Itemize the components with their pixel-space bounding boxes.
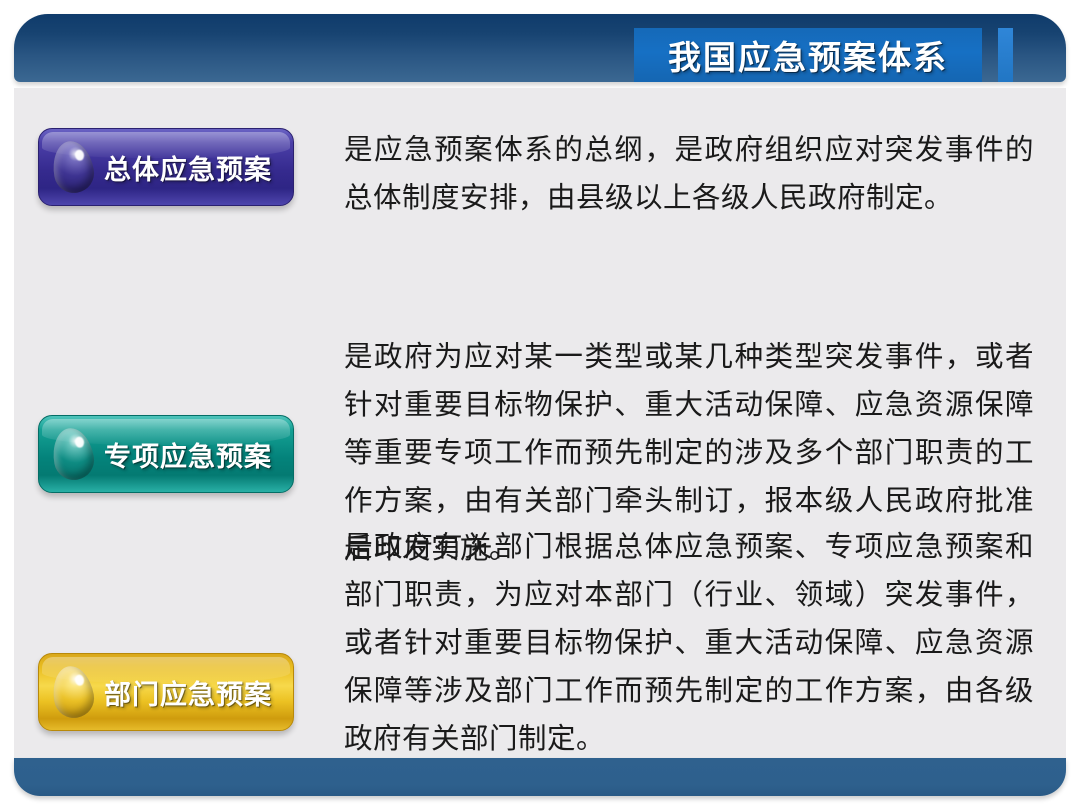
footer-bar — [14, 758, 1066, 796]
header-title-box: 我国应急预案体系 — [634, 28, 982, 82]
button-overall-emergency-plan[interactable]: 总体应急预案 — [38, 128, 294, 206]
button-department-emergency-plan[interactable]: 部门应急预案 — [38, 653, 294, 731]
water-droplet-icon — [49, 425, 97, 483]
description-department: 是政府有关部门根据总体应急预案、专项应急预案和部门职责，为应对本部门（行业、领域… — [344, 523, 1034, 763]
page-title: 我国应急预案体系 — [668, 31, 948, 79]
header-accent-bar — [998, 28, 1013, 82]
water-droplet-icon — [49, 138, 97, 196]
button-label-overall: 总体应急预案 — [93, 148, 293, 187]
description-overall: 是应急预案体系的总纲，是政府组织应对突发事件的总体制度安排，由县级以上各级人民政… — [344, 126, 1034, 222]
button-special-emergency-plan[interactable]: 专项应急预案 — [38, 415, 294, 493]
button-label-department: 部门应急预案 — [93, 673, 293, 712]
header-bar: 我国应急预案体系 — [14, 14, 1066, 82]
droplet-highlight-icon — [74, 149, 85, 161]
button-label-special: 专项应急预案 — [93, 435, 293, 474]
content-panel: 总体应急预案 是应急预案体系的总纲，是政府组织应对突发事件的总体制度安排，由县级… — [14, 88, 1066, 758]
droplet-highlight-icon — [74, 674, 85, 686]
slide: 我国应急预案体系 总体应急预案 是应急预案体系的总纲，是政府组织应对突发事件的总… — [0, 0, 1080, 810]
water-droplet-icon — [49, 663, 97, 721]
droplet-highlight-icon — [74, 436, 85, 448]
